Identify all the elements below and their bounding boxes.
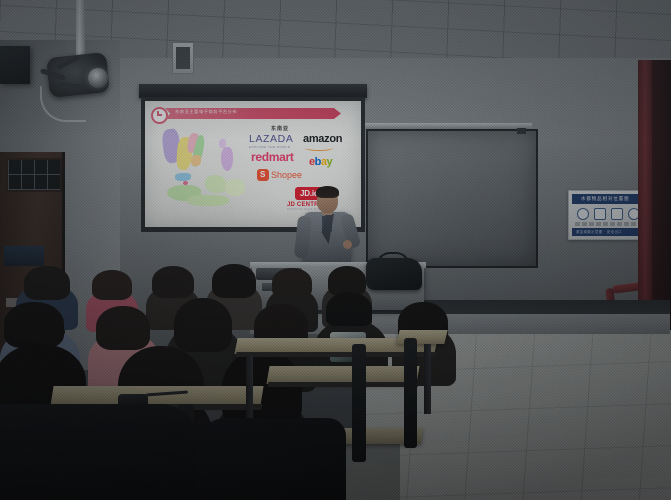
student-hair bbox=[212, 264, 256, 298]
map-country-malaysia bbox=[175, 173, 191, 181]
wall-information-sign: 水都物品相对位置图 紧急疏散示意图 · 安全出口 bbox=[568, 190, 648, 240]
beanie-hat bbox=[326, 292, 372, 326]
sign-header: 水都物品相对位置图 bbox=[572, 194, 644, 204]
student-hair bbox=[96, 306, 150, 350]
sign-icon-row bbox=[574, 207, 642, 221]
sign-header-text: 水都物品相对位置图 bbox=[581, 196, 630, 202]
presenter-hair bbox=[316, 186, 339, 198]
brand-amazon: amazon bbox=[303, 133, 342, 145]
projector-mount-pole bbox=[76, 0, 85, 62]
brand-lazada-tagline: EXPLORE THE WORLD bbox=[249, 145, 293, 149]
door-poster-panel bbox=[4, 246, 44, 266]
clock-icon bbox=[151, 107, 168, 124]
foreground-student-silhouette bbox=[0, 404, 200, 500]
fire-extinguisher-icon bbox=[577, 208, 589, 220]
projection-screen-valance bbox=[139, 84, 367, 98]
brand-shopee: Shopee bbox=[271, 170, 302, 180]
whiteboard-clip bbox=[517, 128, 526, 134]
phone-icon bbox=[611, 208, 623, 220]
amazon-smile-icon bbox=[305, 145, 333, 151]
whiteboard bbox=[366, 129, 538, 268]
wall-speaker-icon bbox=[0, 46, 30, 84]
chair-back-post bbox=[404, 338, 417, 448]
shopee-logo-icon bbox=[257, 169, 269, 181]
student-hair bbox=[152, 266, 194, 298]
southeast-asia-map bbox=[153, 123, 257, 223]
map-country-borneo bbox=[205, 175, 227, 193]
map-country-sulawesi bbox=[225, 179, 245, 196]
sign-footer-text: 紧急疏散示意图 · 安全出口 bbox=[576, 229, 622, 234]
brand-lazada: LAZADAEXPLORE THE WORLD bbox=[249, 133, 293, 149]
student-hair bbox=[272, 268, 312, 298]
sign-footer: 紧急疏散示意图 · 安全出口 bbox=[572, 228, 644, 236]
slide-header-banner: 东南亚主要电子商务平台分布 bbox=[165, 108, 341, 119]
slide-header-text: 东南亚主要电子商务平台分布 bbox=[175, 109, 237, 115]
exit-door-icon bbox=[594, 208, 606, 220]
map-country-java bbox=[187, 195, 229, 206]
desk-leg bbox=[424, 344, 431, 414]
presenter-hand bbox=[343, 240, 352, 249]
chair-back-post bbox=[352, 344, 366, 462]
student-hair bbox=[24, 266, 70, 300]
map-country-luzon bbox=[219, 139, 226, 148]
student-hair bbox=[4, 302, 64, 348]
brand-ebay: ebay bbox=[309, 156, 332, 168]
student-hair bbox=[92, 270, 132, 300]
door-window-panel bbox=[6, 158, 62, 192]
map-country-philippines bbox=[221, 147, 233, 171]
map-country-cambodia bbox=[191, 155, 201, 166]
classroom-photo: 东南亚主要电子商务平台分布 东南亚 LAZADAEXPLORE THE WORL… bbox=[0, 0, 671, 500]
wall-notice-plate bbox=[172, 42, 194, 74]
sign-caption-lines bbox=[575, 222, 641, 226]
slide-region-label: 东南亚 bbox=[271, 125, 289, 132]
student-desk bbox=[50, 386, 263, 406]
student-desk-edge bbox=[268, 382, 419, 387]
projector-lens-icon bbox=[88, 68, 108, 88]
brand-redmart: redmart bbox=[251, 150, 294, 164]
foreground-chair-silhouette bbox=[196, 418, 346, 500]
student-hair bbox=[174, 298, 232, 352]
